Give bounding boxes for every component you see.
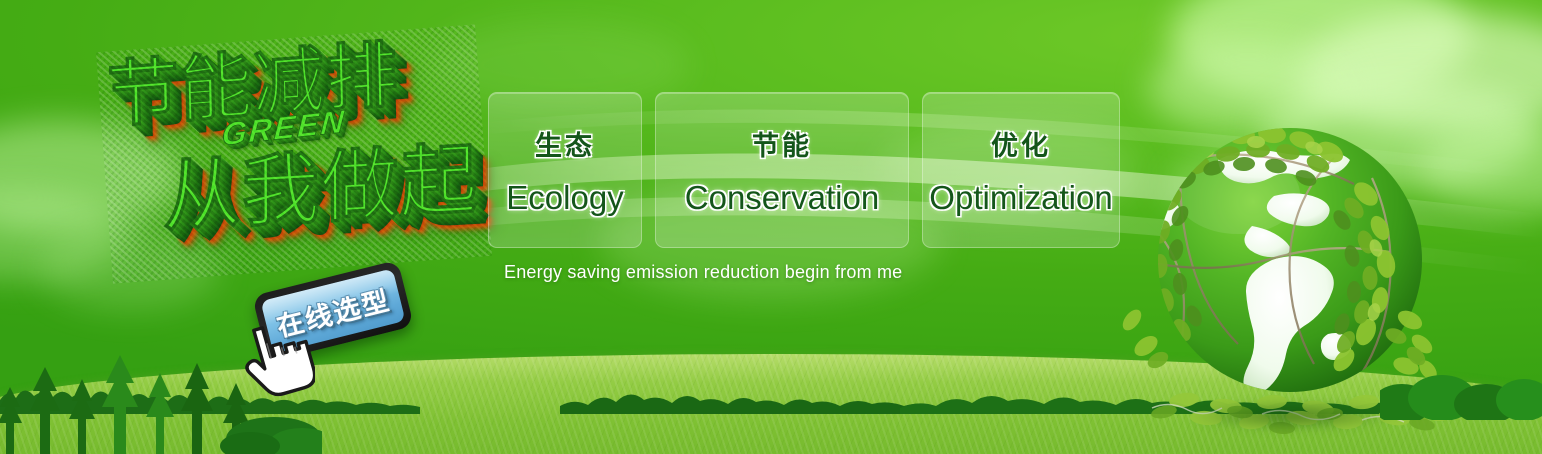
feature-card-conservation[interactable]: 节能 Conservation	[655, 92, 909, 248]
headline-weave-texture	[96, 24, 492, 283]
feature-card-ecology[interactable]: 生态 Ecology	[488, 92, 642, 248]
green-energy-hero-banner: 节能减排 GREEN 从我做起 在线选型 生态 Ecology 节能 Conse…	[0, 0, 1542, 454]
feature-card-en-label: Optimization	[929, 179, 1112, 217]
online-selection-button[interactable]: 在线选型	[252, 260, 414, 362]
bush-cluster	[1380, 360, 1542, 420]
cloud-shape	[0, 120, 184, 232]
cloud-shape	[40, 230, 220, 310]
headline-line-bottom: 从我做起	[163, 139, 479, 237]
headline-line-top: 节能减排	[107, 38, 400, 133]
headline-line-green: GREEN	[221, 104, 347, 152]
feature-card-cn-label: 优化	[991, 124, 1051, 163]
feature-card-en-label: Ecology	[506, 179, 623, 217]
hero-headline: 节能减排 GREEN 从我做起	[96, 24, 492, 283]
feature-card-list: 生态 Ecology 节能 Conservation 优化 Optimizati…	[488, 92, 1120, 248]
feature-card-optimization[interactable]: 优化 Optimization	[922, 92, 1120, 248]
feature-card-cn-label: 节能	[752, 124, 812, 163]
cloud-shape	[1170, 0, 1470, 106]
banner-tagline: Energy saving emission reduction begin f…	[504, 262, 902, 283]
feature-card-en-label: Conservation	[685, 179, 879, 217]
cloud-shape	[0, 190, 130, 280]
feature-card-cn-label: 生态	[535, 124, 595, 163]
